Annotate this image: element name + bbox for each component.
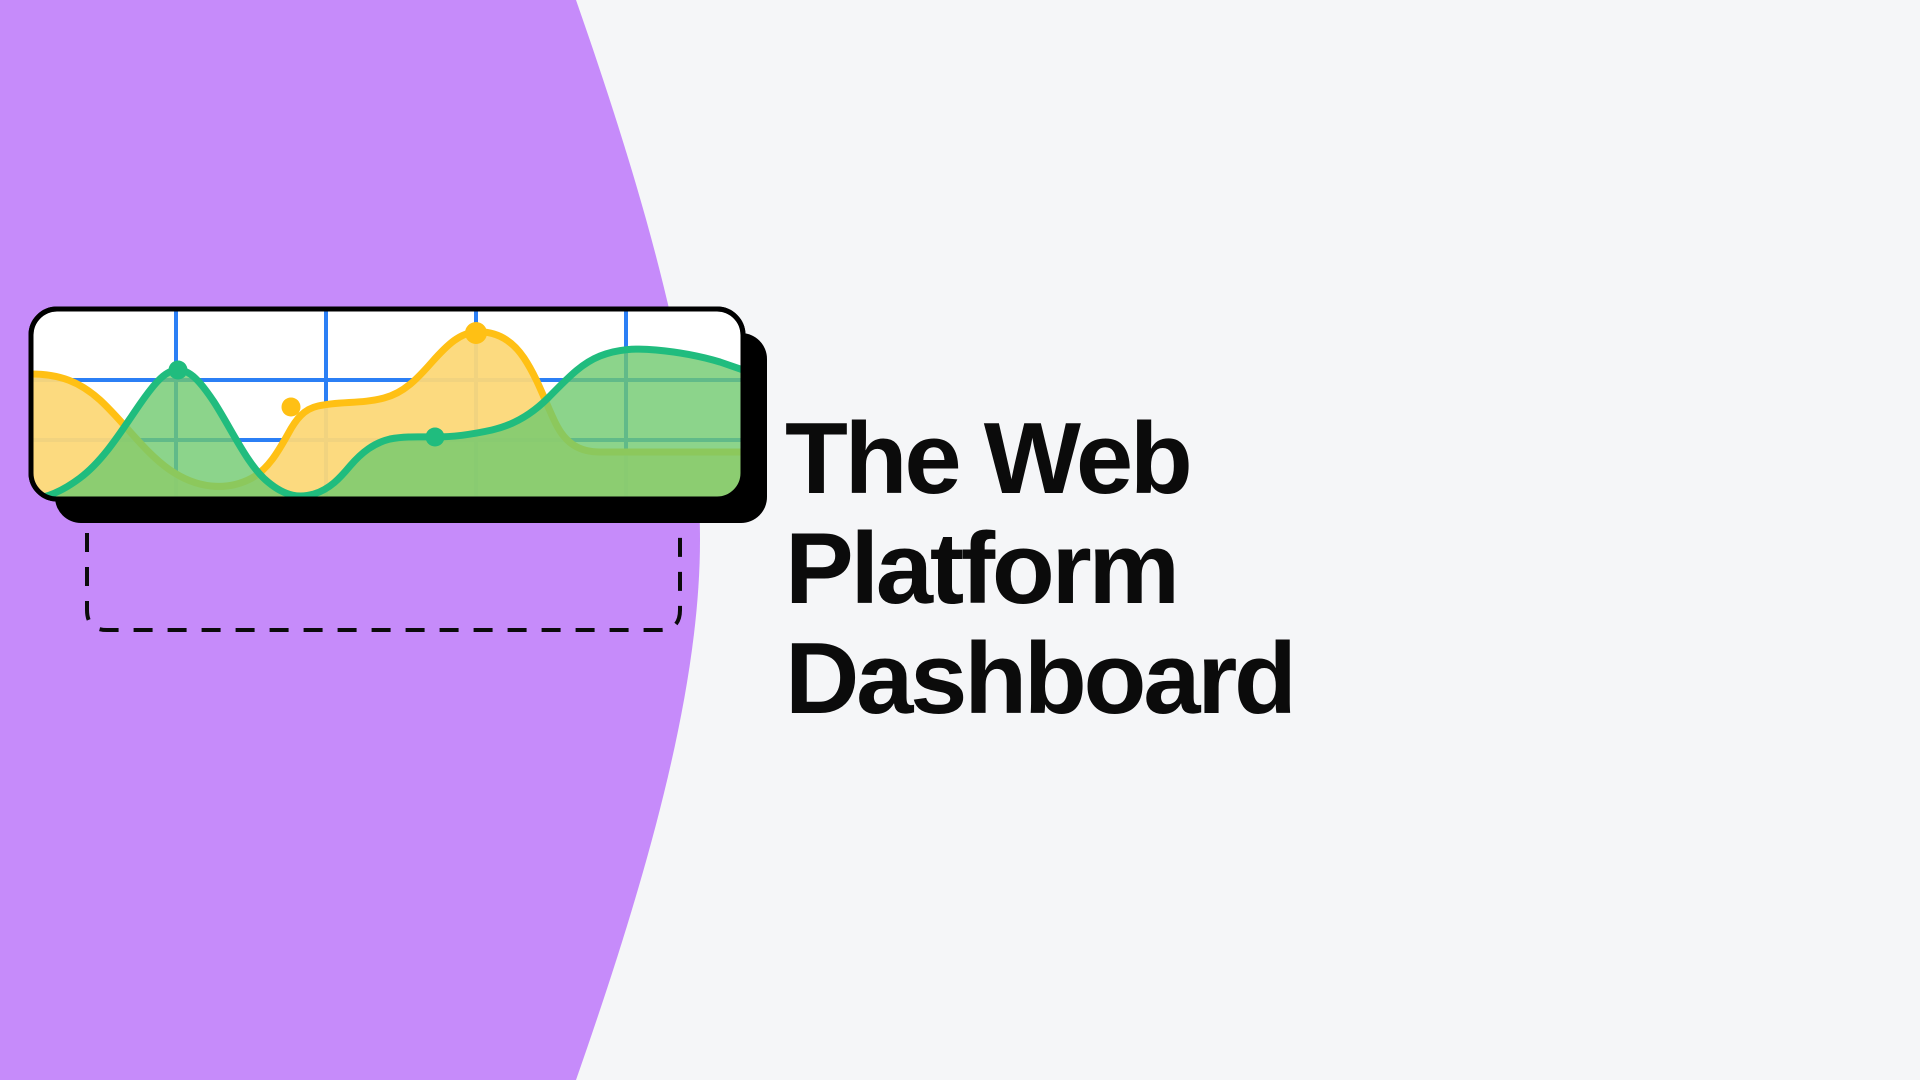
- amber-point-1-marker[interactable]: [282, 398, 301, 417]
- hero-banner: The Web Platform Dashboard: [0, 0, 1920, 1080]
- page-title-line-1: The Web: [785, 404, 1621, 514]
- page-title-line-3: Dashboard: [785, 624, 1621, 734]
- amber-point-2-marker[interactable]: [465, 322, 487, 344]
- page-title: The Web Platform Dashboard: [785, 404, 1605, 734]
- green-point-1-marker[interactable]: [169, 361, 188, 380]
- page-title-line-2: Platform: [785, 514, 1621, 624]
- green-point-2-marker[interactable]: [426, 428, 445, 447]
- chart-illustration: [0, 0, 900, 1080]
